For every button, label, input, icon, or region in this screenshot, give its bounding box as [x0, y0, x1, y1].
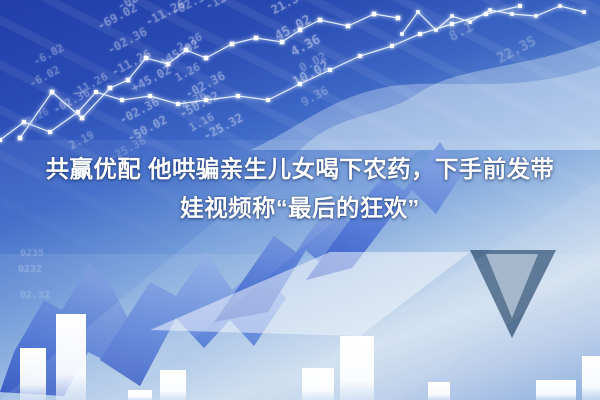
glow-line-marker: [396, 16, 401, 21]
glow-line-marker: [266, 98, 270, 102]
glow-line-marker: [120, 98, 124, 102]
glow-line-marker: [280, 40, 285, 45]
glow-line-marker: [108, 86, 113, 91]
glow-line-marker: [148, 94, 152, 98]
glow-line-marker: [372, 12, 377, 17]
glow-line-marker: [418, 32, 422, 36]
glow-line-marker: [450, 14, 454, 18]
glow-line-marker: [50, 90, 55, 95]
glow-line-marker: [230, 42, 235, 47]
glow-line-marker: [510, 12, 514, 16]
glow-line-marker: [144, 56, 149, 61]
glow-line-marker: [204, 98, 208, 102]
glow-line-marker: [80, 116, 85, 121]
glow-line-marker: [18, 136, 23, 141]
headline-line-2: 娃视频称“最后的狂欢”: [8, 189, 592, 228]
glow-line-marker: [254, 36, 259, 41]
glow-line-marker: [298, 82, 302, 86]
news-banner: -02.36-11.262.261.264.261.16-69.02-02.36…: [0, 0, 600, 400]
glow-line-marker: [488, 8, 492, 12]
glow-line-marker: [390, 44, 394, 48]
chart-bar: [536, 380, 576, 400]
chart-bar: [428, 382, 450, 400]
glow-line-marker: [48, 130, 52, 134]
glow-line-marker: [582, 10, 586, 14]
glow-line-marker: [400, 32, 404, 36]
glow-line-marker: [236, 94, 240, 98]
glow-line-marker: [0, 138, 2, 142]
glow-line-marker: [358, 54, 362, 58]
glow-line-marker: [328, 68, 332, 72]
glow-line-marker: [318, 18, 323, 23]
chart-bar: [128, 390, 152, 400]
glow-line-marker: [126, 78, 131, 83]
headline-line-1: 共赢优配 他哄骗亲生儿女喝下农药，下手前发带: [8, 150, 592, 189]
glow-line-marker: [416, 10, 420, 14]
glow-line-marker: [346, 24, 351, 29]
glow-line-marker: [94, 90, 98, 94]
glow-line-marker: [434, 28, 438, 32]
glow-line-marker: [558, 4, 562, 8]
glow-line-marker: [166, 62, 171, 67]
glow-line-marker: [534, 14, 538, 18]
glow-line-marker: [450, 22, 454, 26]
chart-bar: [582, 356, 600, 400]
glow-line-marker: [22, 120, 26, 124]
glow-line-marker: [468, 20, 472, 24]
glow-line-upper: [402, 6, 584, 34]
glow-line-marker: [518, 4, 522, 8]
glow-line-marker: [176, 102, 180, 106]
glow-line-marker: [184, 48, 189, 53]
glow-line-marker: [204, 56, 209, 61]
chart-bar: [160, 370, 186, 400]
headline: 共赢优配 他哄骗亲生儿女喝下农药，下手前发带 娃视频称“最后的狂欢”: [0, 150, 600, 228]
glow-line-marker: [298, 28, 303, 33]
